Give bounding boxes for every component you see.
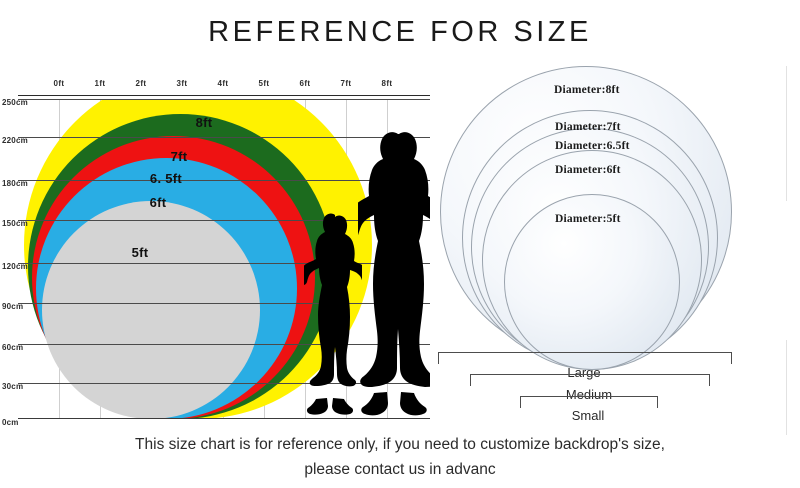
bracket-small	[520, 396, 658, 408]
circle-label-8ft: 8ft	[196, 115, 213, 130]
disc-label-6_5ft: Diameter:6.5ft	[555, 140, 630, 152]
y-tick-120cm: 120cm	[2, 262, 28, 271]
circle-label-5ft: 5ft	[132, 245, 149, 260]
size-reference-chart: REFERENCE FOR SIZE 0ft 1ft 2ft 3ft 4ft 5…	[0, 0, 800, 488]
y-tick-220cm: 220cm	[2, 136, 28, 145]
y-tick-60cm: 60cm	[2, 343, 23, 352]
circle-label-6ft: 6ft	[150, 195, 167, 210]
circle-5ft	[42, 201, 260, 419]
caption: This size chart is for reference only, i…	[40, 432, 760, 482]
disc-diagram: Diameter:8ft Diameter:7ft Diameter:6.5ft…	[436, 58, 780, 358]
x-tick-4ft: 4ft	[218, 79, 229, 88]
disc-label-6ft: Diameter:6ft	[555, 164, 621, 176]
y-tick-0cm: 0cm	[2, 418, 19, 427]
bracket-medium	[470, 374, 710, 386]
page-title: REFERENCE FOR SIZE	[0, 16, 800, 49]
bracket-label-small: Small	[572, 408, 605, 423]
disc-label-8ft: Diameter:8ft	[554, 84, 620, 96]
x-tick-6ft: 6ft	[300, 79, 311, 88]
bracket-large	[438, 352, 732, 364]
right-edge-rule	[786, 66, 787, 201]
child-silhouette	[304, 211, 362, 419]
h-gridline-250cm	[18, 99, 430, 100]
right-edge-rule-lower	[786, 340, 787, 435]
x-axis: 0ft 1ft 2ft 3ft 4ft 5ft 6ft 7ft 8ft	[18, 78, 430, 98]
x-tick-7ft: 7ft	[341, 79, 352, 88]
circle-label-7ft: 7ft	[171, 149, 188, 164]
disc-label-7ft: Diameter:7ft	[555, 121, 621, 133]
caption-line-2: please contact us in advanc	[40, 457, 760, 482]
y-tick-250cm: 250cm	[2, 98, 28, 107]
x-tick-0ft: 0ft	[54, 79, 65, 88]
y-tick-180cm: 180cm	[2, 179, 28, 188]
x-tick-2ft: 2ft	[136, 79, 147, 88]
x-axis-line	[18, 95, 430, 96]
x-tick-8ft: 8ft	[382, 79, 393, 88]
plot-area: 8ft 7ft 6. 5ft 6ft 5ft	[18, 99, 430, 419]
x-tick-1ft: 1ft	[95, 79, 106, 88]
x-tick-3ft: 3ft	[177, 79, 188, 88]
left-size-chart: 0ft 1ft 2ft 3ft 4ft 5ft 6ft 7ft 8ft	[18, 78, 430, 423]
disc-label-5ft: Diameter:5ft	[555, 213, 621, 225]
y-tick-90cm: 90cm	[2, 302, 23, 311]
x-tick-5ft: 5ft	[259, 79, 270, 88]
adult-silhouette	[358, 131, 430, 419]
circle-label-6_5ft: 6. 5ft	[150, 171, 182, 186]
caption-line-1: This size chart is for reference only, i…	[40, 432, 760, 457]
y-tick-30cm: 30cm	[2, 382, 23, 391]
size-brackets: Large Medium Small	[436, 344, 780, 428]
y-tick-150cm: 150cm	[2, 219, 28, 228]
